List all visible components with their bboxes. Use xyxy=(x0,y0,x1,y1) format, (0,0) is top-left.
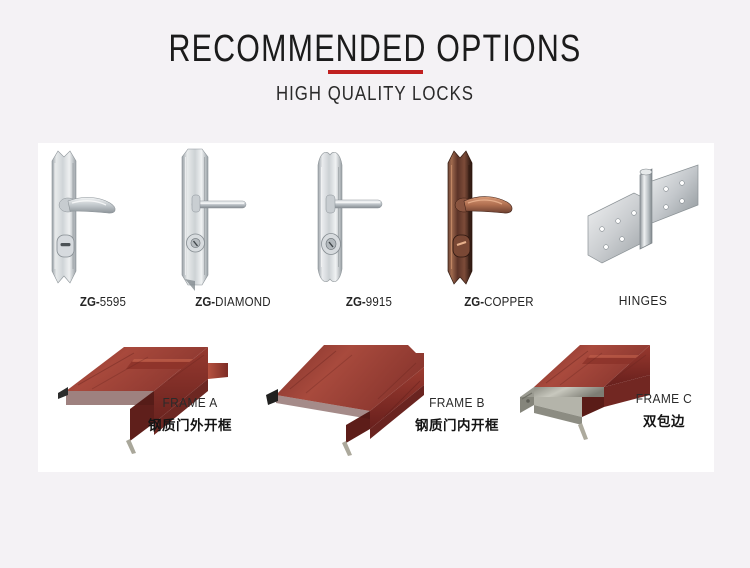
product-card-zg-copper[interactable]: ZG-COPPER xyxy=(434,143,564,333)
product-prefix: ZG- xyxy=(346,295,366,309)
frame-label-cn: 钢质门外开框 xyxy=(130,414,250,434)
product-card-frame-b[interactable]: FRAME B 钢质门内开框 xyxy=(266,333,516,472)
product-card-frame-c[interactable]: FRAME C 双包边 xyxy=(504,333,714,472)
product-card-frame-a[interactable]: FRAME A 钢质门外开框 xyxy=(58,333,298,472)
frame-caption: FRAME C 双包边 xyxy=(614,391,714,430)
lock-plate-icon xyxy=(304,143,434,293)
product-prefix: ZG- xyxy=(195,295,215,309)
product-label: ZG-9915 xyxy=(309,295,429,309)
lock-plate-icon xyxy=(434,143,564,293)
product-label: ZG-COPPER xyxy=(439,295,559,309)
product-name: 5595 xyxy=(100,295,126,309)
hinge-icon xyxy=(572,143,714,293)
frame-label-en: FRAME A xyxy=(135,395,245,410)
product-card-zg-diamond[interactable]: ZG-DIAMOND xyxy=(168,143,298,333)
product-name: 9915 xyxy=(366,295,392,309)
product-prefix: ZG- xyxy=(80,295,100,309)
frame-label-en: FRAME B xyxy=(403,395,512,410)
product-card-hinges[interactable]: HINGES xyxy=(572,143,714,333)
lock-plate-icon xyxy=(168,143,298,293)
product-prefix: ZG- xyxy=(464,295,484,309)
page-subtitle: HIGH QUALITY LOCKS xyxy=(60,83,690,106)
products-panel: ZG-5595 xyxy=(38,143,714,472)
product-name: COPPER xyxy=(484,295,534,309)
title-divider xyxy=(328,70,423,74)
frame-caption: FRAME A 钢质门外开框 xyxy=(130,395,250,434)
product-name: DIAMOND xyxy=(215,295,271,309)
product-card-zg-9915[interactable]: ZG-9915 xyxy=(304,143,434,333)
frame-label-cn: 双包边 xyxy=(614,410,714,430)
product-label: ZG-5595 xyxy=(43,295,163,309)
product-card-zg-5595[interactable]: ZG-5595 xyxy=(38,143,168,333)
lock-plate-icon xyxy=(38,143,168,293)
frame-caption: FRAME B 钢质门内开框 xyxy=(398,395,516,434)
frames-row: FRAME A 钢质门外开框 xyxy=(38,333,714,472)
frame-label-en: FRAME C xyxy=(618,391,710,406)
product-label: ZG-DIAMOND xyxy=(173,295,293,309)
frame-label-cn: 钢质门内开框 xyxy=(398,414,516,434)
locks-row: ZG-5595 xyxy=(38,143,714,333)
page-header: RECOMMENDED OPTIONS HIGH QUALITY LOCKS xyxy=(0,0,750,143)
product-label: HINGES xyxy=(578,293,709,308)
page-title: RECOMMENDED OPTIONS xyxy=(75,28,675,71)
